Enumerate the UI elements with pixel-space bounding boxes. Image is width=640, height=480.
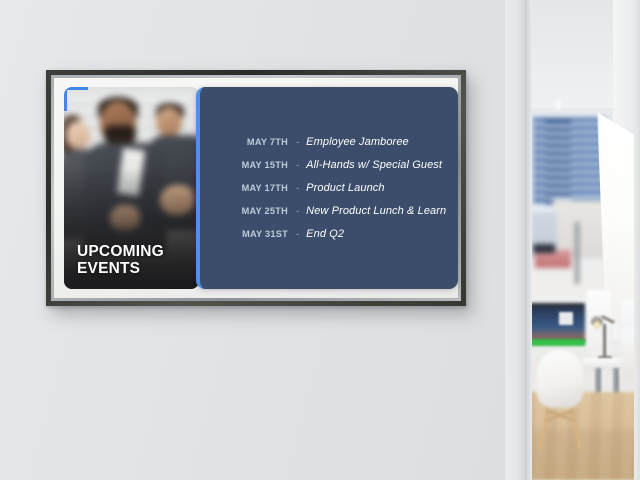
event-name: End Q2: [306, 228, 344, 240]
door-jamb-left: [525, 0, 532, 480]
event-date: MAY 15TH: [210, 160, 288, 170]
events-panel: MAY 7TH - Employee Jamboree MAY 15TH - A…: [196, 87, 458, 289]
signage-slide: UPCOMING EVENTS MAY 7TH - Employee Jambo…: [64, 87, 448, 289]
event-name: New Product Lunch & Learn: [306, 205, 446, 217]
event-row: MAY 25TH - New Product Lunch & Learn: [210, 205, 446, 217]
monitor-screen-highlight: [559, 312, 573, 325]
office-background: [525, 0, 640, 480]
door-jamb-right: [634, 0, 640, 480]
desk-lamp-stem: [603, 324, 606, 358]
slide-title: UPCOMING EVENTS: [77, 244, 191, 277]
event-name: Employee Jamboree: [306, 136, 409, 148]
frame-bevel: UPCOMING EVENTS MAY 7TH - Employee Jambo…: [51, 75, 461, 301]
building-tower-dark: [545, 120, 571, 204]
event-separator: -: [288, 183, 306, 194]
wall-edge: [505, 0, 527, 480]
event-date: MAY 7TH: [210, 137, 288, 147]
desk-monitor: [529, 303, 585, 343]
wall-mounted-display-frame[interactable]: UPCOMING EVENTS MAY 7TH - Employee Jambo…: [46, 70, 466, 306]
corner-bracket-icon: [64, 87, 88, 111]
event-row: MAY 7TH - Employee Jamboree: [210, 136, 446, 148]
slide-title-line1: UPCOMING: [77, 244, 191, 260]
event-name: All-Hands w/ Special Guest: [306, 159, 442, 171]
photo-card: UPCOMING EVENTS: [64, 87, 199, 289]
display-mat: UPCOMING EVENTS MAY 7TH - Employee Jambo…: [54, 78, 458, 298]
event-separator: -: [288, 206, 306, 217]
event-separator: -: [288, 229, 306, 240]
event-date: MAY 25TH: [210, 206, 288, 216]
event-name: Product Launch: [306, 182, 384, 194]
ceiling-light-icon: [556, 100, 561, 110]
event-row: MAY 17TH - Product Launch: [210, 182, 446, 194]
event-row: MAY 15TH - All-Hands w/ Special Guest: [210, 159, 446, 171]
event-separator: -: [288, 137, 306, 148]
event-date: MAY 17TH: [210, 183, 288, 193]
event-row: MAY 31ST - End Q2: [210, 228, 446, 240]
building-dark-block: [533, 244, 555, 253]
monitor-green-strip: [529, 339, 585, 346]
event-separator: -: [288, 160, 306, 171]
event-date: MAY 31ST: [210, 229, 288, 239]
slide-title-line2: EVENTS: [77, 261, 191, 277]
street-pole: [575, 222, 579, 284]
white-chair: [537, 350, 583, 408]
desk-lamp-glow: [593, 321, 601, 329]
